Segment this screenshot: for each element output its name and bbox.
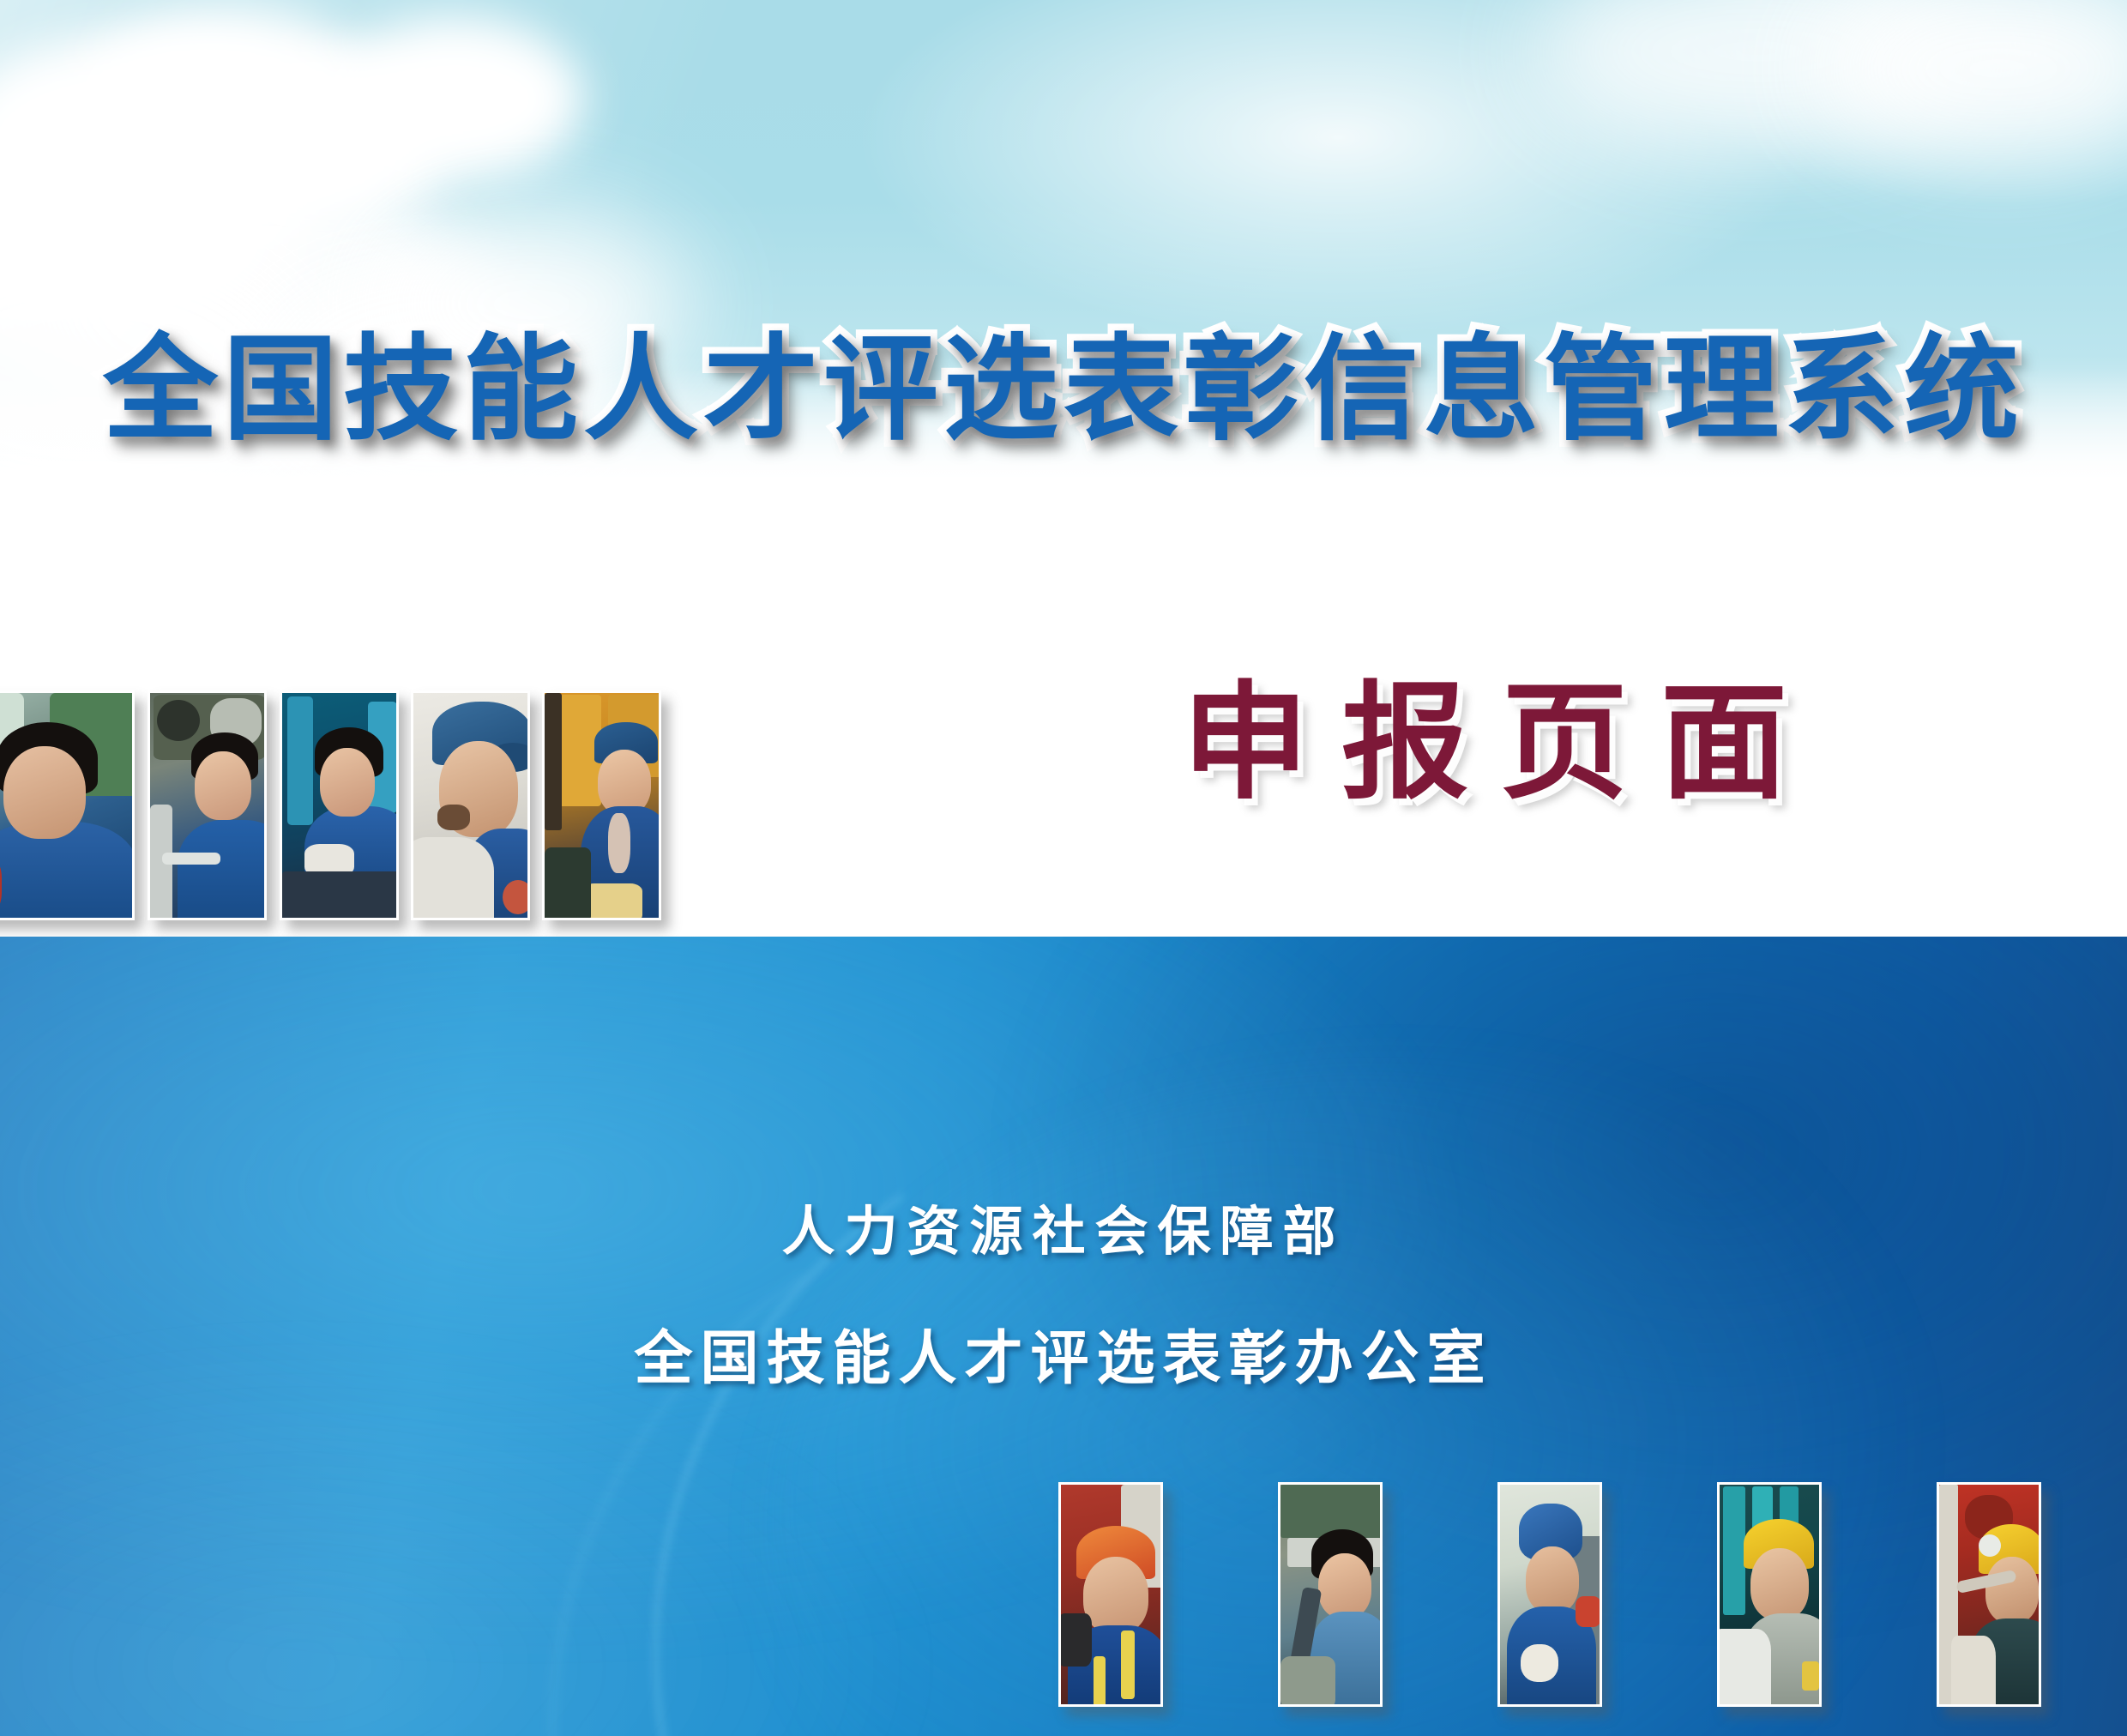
photo-person-head (1985, 1557, 2039, 1624)
photo-bottom-3 (1497, 1482, 1602, 1707)
photo-top-4 (411, 690, 530, 920)
photo-detail (582, 883, 642, 920)
section-title: 申报页面 (1182, 639, 1820, 823)
photo-detail (437, 805, 470, 830)
photo-person-head (195, 751, 251, 820)
organization-secondary: 全国技能人才评选表彰办公室 (0, 1311, 2127, 1395)
photo-helmet-lamp (1979, 1534, 2001, 1557)
photo-detail (411, 837, 494, 920)
photo-detail (1717, 1629, 1771, 1707)
photo-bottom-2 (1278, 1482, 1383, 1707)
organization-primary: 人力资源社会保障部 (0, 1188, 2127, 1265)
photo-top-2 (148, 690, 267, 920)
photo-detail (1951, 1636, 1996, 1707)
photo-person-body (0, 822, 135, 920)
photo-person-head (1750, 1548, 1809, 1620)
photo-bottom-5 (1937, 1482, 2041, 1707)
photo-detail (1094, 1656, 1106, 1707)
photo-detail (1058, 1613, 1092, 1667)
photo-person-head (320, 748, 375, 817)
main-title-container: 全国技能人才评选表彰信息管理系统 (0, 296, 2127, 462)
photo-top-3 (280, 690, 399, 920)
photo-person-head (3, 746, 86, 839)
photo-person-head (598, 750, 651, 815)
photo-detail (503, 880, 530, 914)
photo-person-head (1318, 1553, 1371, 1618)
photo-top-5 (542, 690, 661, 920)
photo-bottom-1 (1058, 1482, 1163, 1707)
photo-person-body (178, 820, 267, 920)
photo-detail (1521, 1644, 1558, 1682)
cloud-shape (326, 17, 583, 180)
page-title: 全国技能人才评选表彰信息管理系统 (103, 296, 2024, 462)
photo-detail (1280, 1656, 1335, 1707)
presentation-slide: 全国技能人才评选表彰信息管理系统 申报页面 (0, 0, 2127, 1736)
photo-detail (545, 847, 591, 920)
photo-top-1 (0, 690, 135, 920)
photo-detail (157, 700, 200, 741)
photo-detail (1576, 1596, 1601, 1627)
photo-detail (1802, 1661, 1819, 1691)
photo-detail (1121, 1631, 1135, 1699)
photo-detail (545, 693, 562, 830)
photo-detail (287, 696, 313, 825)
photo-person-head (1083, 1557, 1148, 1634)
photo-detail (282, 871, 399, 920)
photo-detail (608, 813, 630, 873)
photo-bottom-4 (1717, 1482, 1822, 1707)
photo-detail (1723, 1486, 1745, 1615)
photo-detail (162, 853, 220, 865)
photo-person-head (1526, 1546, 1579, 1613)
